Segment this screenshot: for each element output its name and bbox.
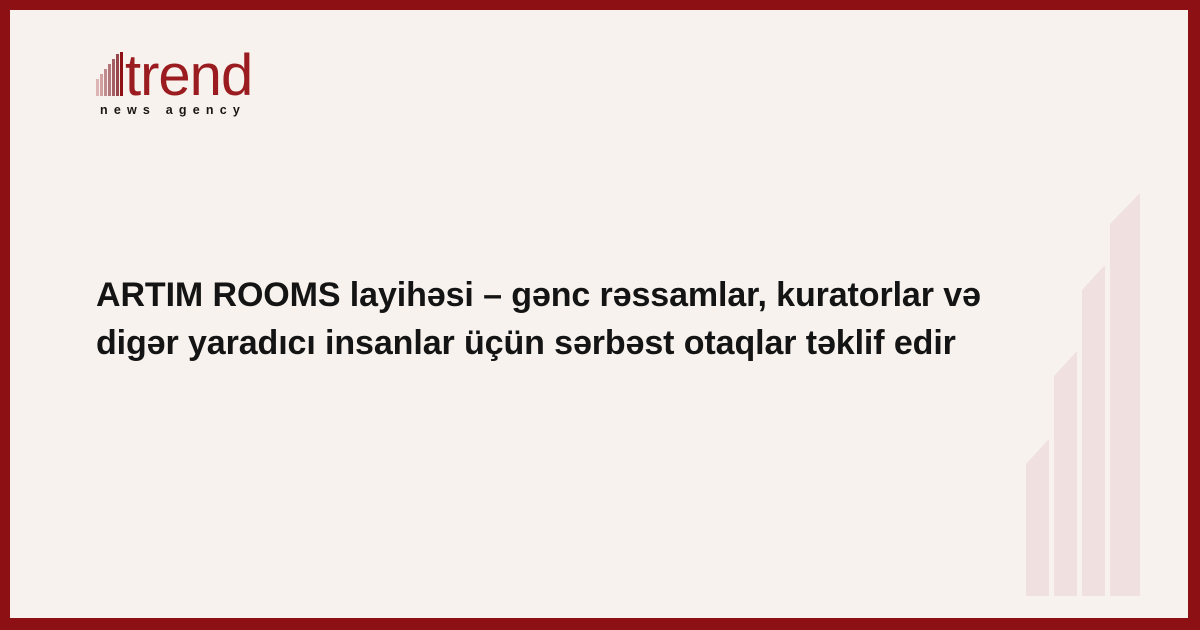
logo-bar-6 bbox=[116, 54, 119, 96]
logo-bar-7 bbox=[120, 52, 123, 96]
headline-line-2: digər yaradıcı insanlar üçün sərbəst ota… bbox=[96, 320, 1056, 368]
logo-bar-1 bbox=[96, 79, 99, 96]
ascending-bars-icon bbox=[96, 54, 123, 98]
decoration-bar-2 bbox=[1054, 352, 1077, 618]
logo-bar-3 bbox=[104, 69, 107, 96]
trend-news-agency-logo[interactable]: trend news agency bbox=[96, 42, 296, 117]
decoration-bottom-mask bbox=[1026, 596, 1168, 618]
logo-mark-row: trend bbox=[96, 42, 296, 98]
ascending-bars-decoration bbox=[1026, 148, 1168, 618]
decoration-bar-1 bbox=[1026, 440, 1049, 618]
logo-bar-2 bbox=[100, 74, 103, 96]
decoration-bar-3 bbox=[1082, 266, 1105, 618]
headline-line-1: ARTIM ROOMS layihəsi – gənc rəssamlar, k… bbox=[96, 272, 1056, 320]
logo-wordmark: trend bbox=[125, 52, 252, 100]
logo-bar-4 bbox=[108, 64, 111, 96]
logo-bar-5 bbox=[112, 59, 115, 96]
card-canvas: trend news agency ARTIM ROOMS layihəsi –… bbox=[10, 10, 1188, 618]
decoration-bar-4 bbox=[1110, 194, 1140, 618]
share-card: trend news agency ARTIM ROOMS layihəsi –… bbox=[0, 0, 1200, 630]
headline: ARTIM ROOMS layihəsi – gənc rəssamlar, k… bbox=[96, 272, 1056, 367]
